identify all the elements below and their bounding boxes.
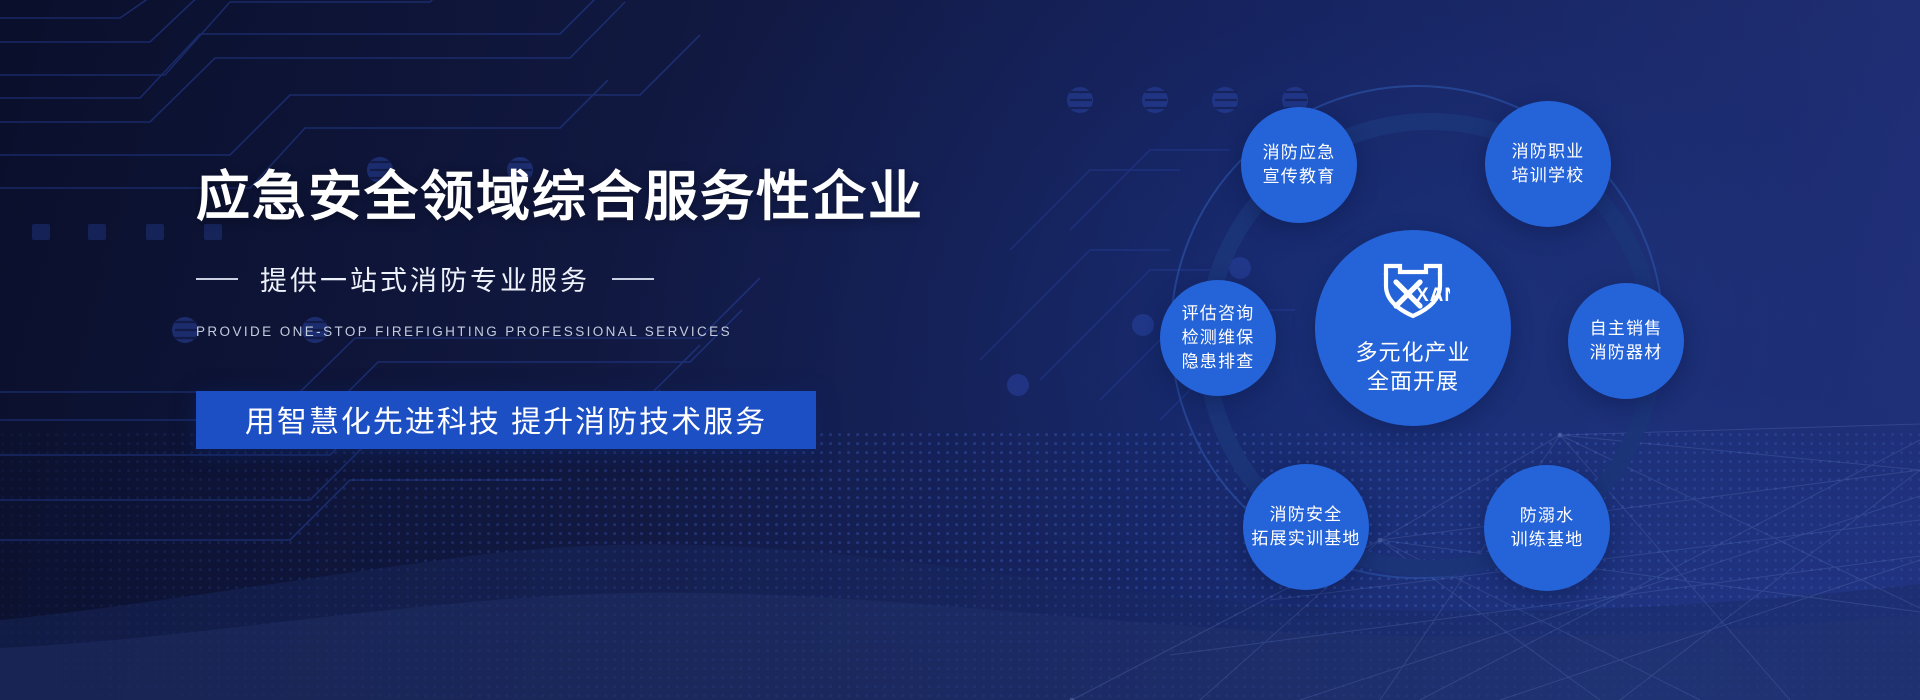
center-node-line2: 全面开展 — [1367, 368, 1459, 397]
svg-text:XAN: XAN — [1416, 285, 1450, 306]
center-node-line1: 多元化产业 — [1355, 339, 1470, 368]
node-line1: 消防安全 — [1270, 503, 1343, 527]
rule-left-decoration — [196, 278, 238, 280]
diagram-node-assessment-consulting[interactable]: 评估咨询 检测维保 隐患排查 — [1160, 280, 1276, 396]
hero-banner: 应急安全领域综合服务性企业 提供一站式消防专业服务 PROVIDE ONE-ST… — [0, 0, 1920, 700]
diagram-node-equipment-sales[interactable]: 自主销售 消防器材 — [1568, 283, 1684, 399]
node-line1: 评估咨询 — [1182, 302, 1255, 326]
node-line1: 消防应急 — [1263, 141, 1336, 165]
node-line1: 自主销售 — [1590, 317, 1663, 341]
diagram-node-fire-vocational-school[interactable]: 消防职业 培训学校 — [1485, 101, 1611, 227]
xan-shield-logo-icon: XAN — [1376, 260, 1450, 330]
node-line1: 消防职业 — [1512, 140, 1585, 164]
node-line2: 培训学校 — [1512, 164, 1585, 188]
page-subtitle: 提供一站式消防专业服务 — [260, 259, 590, 298]
hero-text-block: 应急安全领域综合服务性企业 提供一站式消防专业服务 PROVIDE ONE-ST… — [196, 168, 1096, 449]
diagram-center-node[interactable]: XAN 多元化产业 全面开展 — [1315, 230, 1511, 426]
subtitle-row: 提供一站式消防专业服务 — [196, 259, 1096, 298]
diagram-node-safety-training-base[interactable]: 消防安全 拓展实训基地 — [1243, 464, 1369, 590]
node-line2: 宣传教育 — [1263, 165, 1336, 189]
node-line3: 隐患排查 — [1182, 350, 1255, 374]
node-line1: 防溺水 — [1520, 504, 1575, 528]
page-title: 应急安全领域综合服务性企业 — [196, 168, 1096, 227]
english-tagline: PROVIDE ONE-STOP FIREFIGHTING PROFESSION… — [196, 324, 1096, 339]
diagram-node-anti-drowning-base[interactable]: 防溺水 训练基地 — [1484, 465, 1610, 591]
cta-button[interactable]: 用智慧化先进科技 提升消防技术服务 — [196, 391, 816, 449]
node-line2: 消防器材 — [1590, 341, 1663, 365]
node-line2: 检测维保 — [1182, 326, 1255, 350]
node-line2: 拓展实训基地 — [1251, 527, 1360, 551]
node-line2: 训练基地 — [1511, 528, 1584, 552]
rule-right-decoration — [612, 278, 654, 280]
diagram-node-fire-emergency-education[interactable]: 消防应急 宣传教育 — [1241, 107, 1357, 223]
services-circle-diagram: XAN 多元化产业 全面开展 消防应急 宣传教育 消防职业 培训学校 评估咨询 … — [1140, 55, 1730, 645]
